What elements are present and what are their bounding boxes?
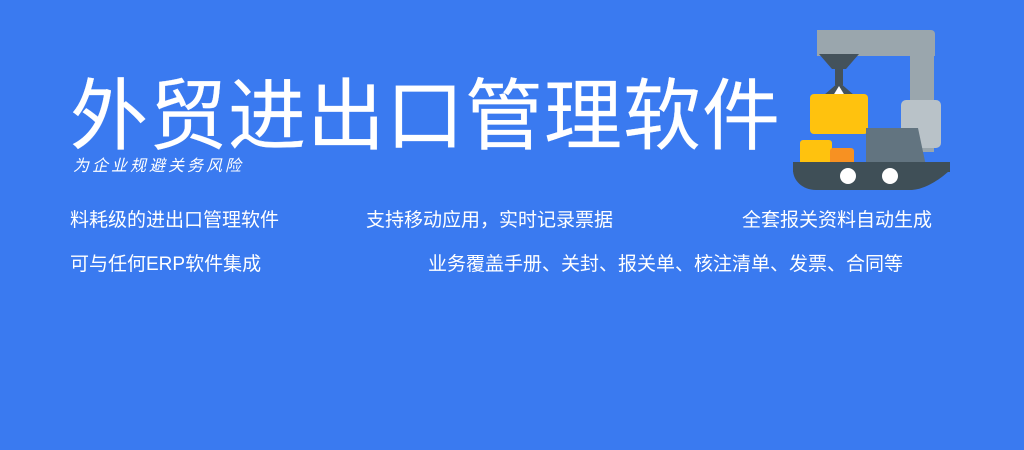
feature-item: 支持移动应用，实时记录票据 [366,208,613,234]
page-title: 外贸进出口管理软件 [70,78,750,156]
feature-row-2: 可与任何ERP软件集成 业务覆盖手册、关封、报关单、核注清单、发票、合同等 [0,252,1024,296]
title-block: 外贸进出口管理软件 为企业规避关务风险 [70,78,750,176]
hanging-container-icon [810,94,868,134]
feature-item: 料耗级的进出口管理软件 [70,208,279,234]
feature-item: 全套报关资料自动生成 [742,208,932,234]
promo-banner: 外贸进出口管理软件 为企业规避关务风险 料耗级的进出口管理软件 支持移动应用，实… [0,0,1024,450]
feature-item: 业务覆盖手册、关封、报关单、核注清单、发票、合同等 [428,252,903,278]
port-crane-ship-illustration [790,12,990,202]
feature-row-1: 料耗级的进出口管理软件 支持移动应用，实时记录票据 全套报关资料自动生成 [0,208,1024,252]
ship-cabin-icon [866,128,926,166]
feature-list: 料耗级的进出口管理软件 支持移动应用，实时记录票据 全套报关资料自动生成 可与任… [0,208,1024,296]
ship-hull-icon [793,162,950,190]
feature-item: 可与任何ERP软件集成 [70,252,261,278]
